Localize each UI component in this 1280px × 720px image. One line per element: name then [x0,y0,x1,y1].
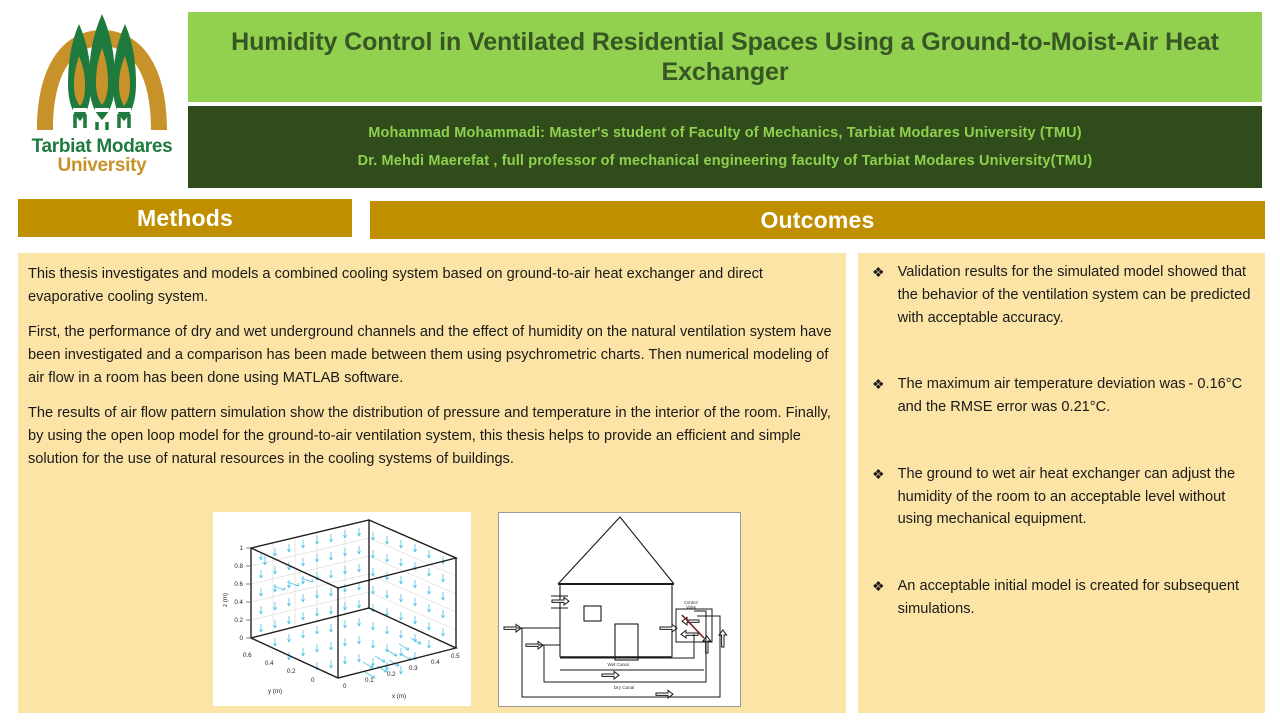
logo-wordmark: Tarbiat Modares University [32,137,173,176]
methods-paragraph: First, the performance of dry and wet un… [28,321,836,390]
y-tick: 0.2 [287,668,296,675]
z-tick: 1 [240,545,244,552]
figure-airflow-quiver: 1 0.8 0.6 0.4 0.2 0 z (m) 0.6 0.4 0.2 0 … [213,512,471,706]
y-tick: 0.6 [243,652,252,659]
x-tick: 0.3 [409,665,418,672]
list-item: ❖ The maximum air temperature deviation … [872,373,1254,419]
outcomes-panel: ❖ Validation results for the simulated m… [858,253,1265,713]
x-tick: 0.1 [365,677,374,684]
x-tick: 0 [343,683,347,690]
wet-canal-label: Wet Canal [607,662,628,667]
tmu-logo-mark [27,8,177,136]
list-item-text: The ground to wet air heat exchanger can… [898,463,1254,531]
y-axis-label: y (m) [268,688,282,695]
x-tick: 0.5 [451,653,460,660]
x-axis-label: x (m) [392,693,406,700]
z-axis-label: z (m) [222,593,229,607]
list-item: ❖ The ground to wet air heat exchanger c… [872,463,1254,531]
poster-root: Tarbiat Modares University Humidity Cont… [0,0,1280,720]
list-item-text: The maximum air temperature deviation wa… [898,373,1254,419]
z-tick: 0.6 [234,581,243,588]
house-schematic-svg: Control Valve Wet Canal Dry Canal [498,512,741,707]
section-label-outcomes: Outcomes [760,207,874,234]
z-tick: 0.2 [234,617,243,624]
figure-house-schematic: Control Valve Wet Canal Dry Canal [498,512,741,707]
y-tick: 0.4 [265,660,274,667]
diamond-bullet-icon: ❖ [872,463,885,531]
quiver-plot-svg: 1 0.8 0.6 0.4 0.2 0 z (m) 0.6 0.4 0.2 0 … [213,512,471,706]
section-label-methods: Methods [137,205,233,232]
x-tick: 0.2 [387,671,396,678]
section-header-outcomes: Outcomes [370,201,1265,239]
z-tick: 0.8 [234,563,243,570]
logo-line-2: University [32,156,173,175]
list-item-text: An acceptable initial model is created f… [898,575,1254,621]
poster-title-bar: Humidity Control in Ventilated Residenti… [188,12,1262,102]
logo-line-1: Tarbiat Modares [32,137,173,156]
authors-bar: Mohammad Mohammadi: Master's student of … [188,106,1262,188]
methods-body: This thesis investigates and models a co… [28,263,836,483]
dry-canal-label: Dry Canal [614,685,634,690]
list-item: ❖ An acceptable initial model is created… [872,575,1254,621]
diamond-bullet-icon: ❖ [872,261,885,329]
section-header-methods: Methods [18,199,352,237]
page-title: Humidity Control in Ventilated Residenti… [202,27,1248,88]
author-line-2: Dr. Mehdi Maerefat , full professor of m… [358,153,1093,169]
z-tick: 0.4 [234,599,243,606]
z-tick: 0 [240,635,244,642]
control-valve-label-2: Valve [686,605,697,610]
university-logo: Tarbiat Modares University [18,8,186,186]
outcomes-bullet-list: ❖ Validation results for the simulated m… [872,261,1254,621]
diamond-bullet-icon: ❖ [872,373,885,419]
x-tick: 0.4 [431,659,440,666]
list-item: ❖ Validation results for the simulated m… [872,261,1254,329]
diamond-bullet-icon: ❖ [872,575,885,621]
author-line-1: Mohammad Mohammadi: Master's student of … [368,125,1081,141]
methods-paragraph: This thesis investigates and models a co… [28,263,836,309]
list-item-text: Validation results for the simulated mod… [898,261,1254,329]
y-tick: 0 [311,677,315,684]
methods-paragraph: The results of air flow pattern simulati… [28,402,836,471]
